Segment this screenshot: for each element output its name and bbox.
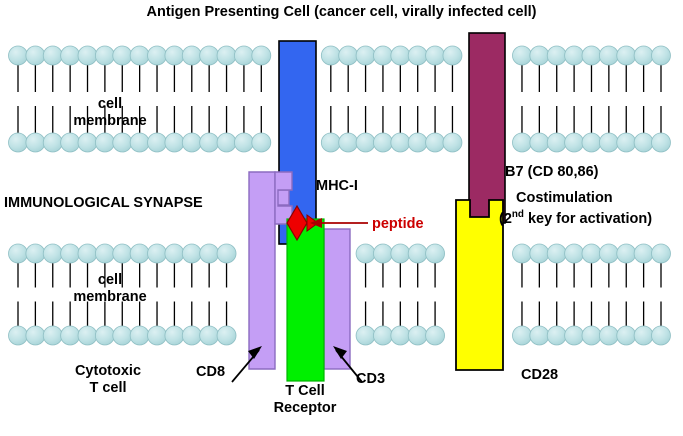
cd3-label: CD3 — [356, 371, 385, 388]
costim-detail-post: key for activation) — [524, 211, 652, 227]
ctl-label-line1: Cytotoxic — [75, 363, 141, 379]
costimulation-label: Costimulation — [516, 190, 613, 207]
tcell-cell-membrane-label: cell membrane — [62, 272, 158, 305]
mhc1-label: MHC-I — [316, 178, 358, 195]
tcr-label-line1: T Cell — [285, 383, 324, 399]
t-cell-receptor-label: T Cell Receptor — [250, 383, 360, 416]
costim-detail-pre: (2 — [499, 211, 512, 227]
cd8-label: CD8 — [196, 364, 225, 381]
t-cell-receptor-protein[interactable] — [287, 219, 324, 381]
tcell-membrane-label-line2: membrane — [73, 289, 146, 305]
tcell-membrane-label-line1: cell — [98, 272, 122, 288]
cytotoxic-t-cell-label: Cytotoxic T cell — [56, 363, 160, 396]
b7-protein[interactable] — [469, 33, 505, 223]
tcr-label-line2: Receptor — [274, 400, 337, 416]
costimulation-detail-label: (2nd key for activation) — [499, 209, 652, 228]
immunological-synapse-label: IMMUNOLOGICAL SYNAPSE — [4, 195, 203, 212]
apc-cell-membrane-label: cell membrane — [62, 96, 158, 129]
b7-label: B7 (CD 80,86) — [505, 164, 598, 181]
apc-membrane-label-line2: membrane — [73, 113, 146, 129]
ctl-label-line2: T cell — [89, 380, 126, 396]
costim-detail-superscript: nd — [512, 209, 524, 220]
cd28-protein[interactable] — [456, 200, 503, 370]
immunological-synapse-diagram: Antigen Presenting Cell (cancer cell, vi… — [0, 0, 683, 436]
cd8-protein[interactable] — [249, 172, 289, 369]
apc-membrane-label-line1: cell — [98, 96, 122, 112]
cd28-label: CD28 — [521, 367, 558, 384]
peptide-label: peptide — [372, 216, 424, 233]
